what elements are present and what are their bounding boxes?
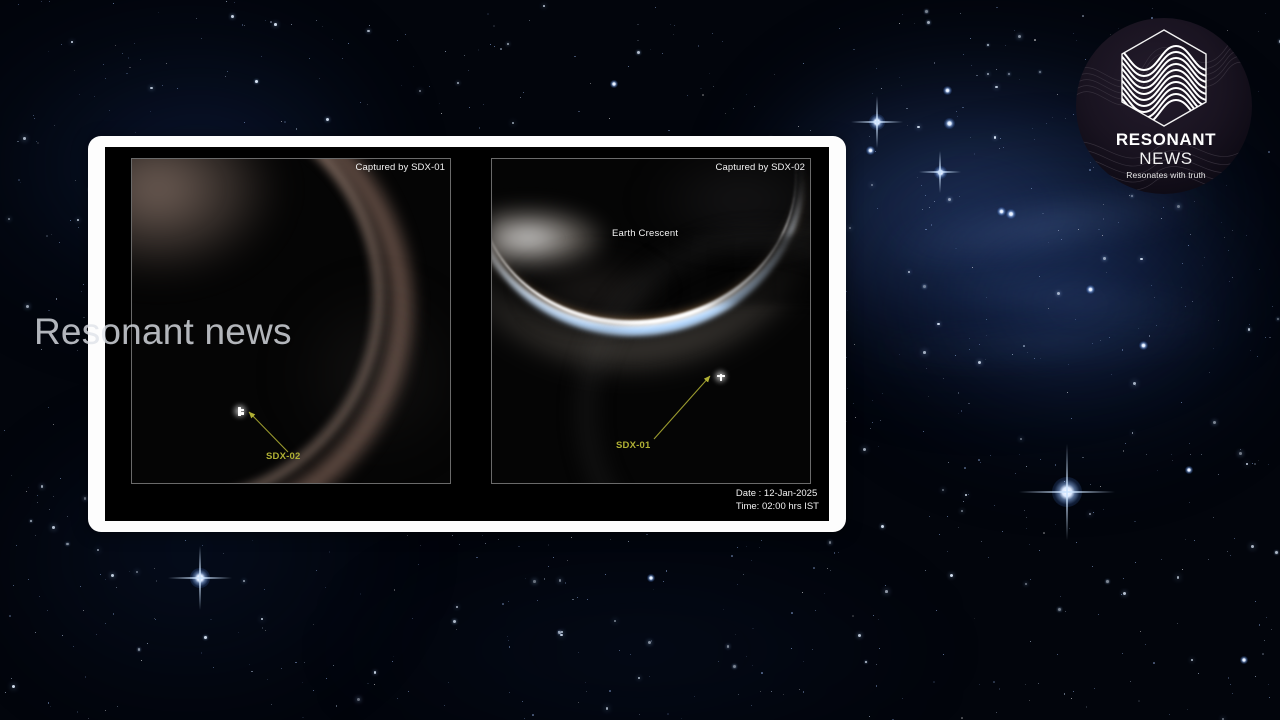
capture-date: Date : 12-Jan-2025 (736, 487, 819, 500)
annotation-arrow-sdx02 (227, 397, 347, 477)
limb-glow (131, 158, 282, 279)
panel-caption-left: Captured by SDX-01 (356, 162, 445, 173)
capture-timestamp: Date : 12-Jan-2025 Time: 02:00 hrs IST (736, 487, 819, 513)
logo-brand-line2: NEWS (1068, 149, 1264, 169)
panel-sdx02-view[interactable]: Earth Crescent SDX-01 Captured (491, 158, 811, 484)
logo-tagline: Resonates with truth (1068, 169, 1264, 181)
logo-text-block: RESONANT NEWS Resonates with truth (1068, 130, 1264, 181)
logo-brand-line1: RESONANT (1068, 130, 1264, 149)
earth-crescent-label: Earth Crescent (612, 228, 678, 239)
watermark-text: Resonant news (34, 311, 292, 353)
annotation-label-sdx01: SDX-01 (616, 440, 650, 451)
annotation-label-sdx02: SDX-02 (266, 451, 300, 462)
capture-time: Time: 02:00 hrs IST (736, 500, 819, 513)
channel-logo: RESONANT NEWS Resonates with truth (1068, 4, 1268, 204)
panel-caption-right: Captured by SDX-02 (716, 162, 805, 173)
